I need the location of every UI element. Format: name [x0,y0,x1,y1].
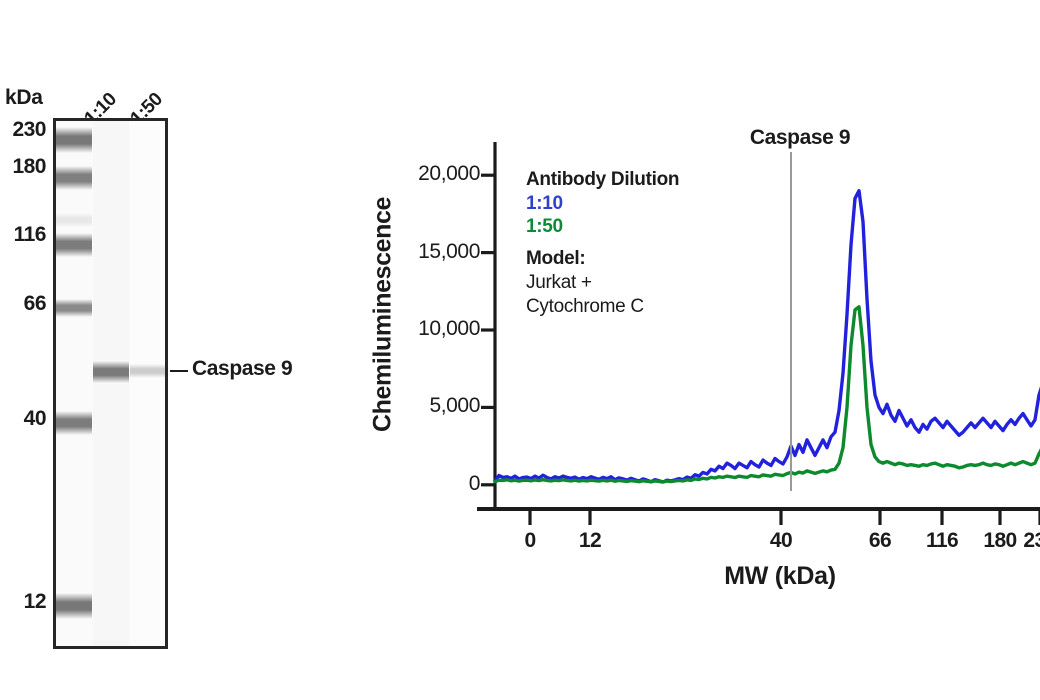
mw-marker-66: 66 [0,292,46,316]
ladder-band [56,166,92,190]
caspase9-blot-label: Caspase 9 [192,357,292,381]
plot-area [330,0,1040,700]
x-axis-title: MW (kDa) [660,562,900,591]
series-line-1-50 [495,307,1040,482]
mw-marker-116: 116 [0,223,46,247]
mw-marker-40: 40 [0,407,46,431]
figure-root: kDa 230180116664012 1:101:50 Caspase 9 C… [0,0,1040,700]
x-tick-label-40: 40 [741,529,821,553]
y-tick-label-20000: 20,000 [370,162,480,186]
electropherogram-chart-panel: Chemiluminescence 05,00010,00015,00020,0… [330,0,1040,700]
y-tick-label-5000: 5,000 [370,394,480,418]
ladder-band [56,299,92,317]
mw-marker-230: 230 [0,118,46,142]
mw-marker-12: 12 [0,590,46,614]
caspase9-band-1-50 [130,364,165,378]
chart-legend: Antibody Dilution 1:10 1:50 Model: Jurka… [526,168,756,319]
legend-model-line-1: Jurkat + [526,271,756,295]
caspase9-annotation-line [790,152,792,491]
legend-entry-1-50: 1:50 [526,215,756,238]
mw-marker-180: 180 [0,155,46,179]
y-tick-label-10000: 10,000 [370,317,480,341]
kda-unit-label: kDa [5,86,43,110]
lane-ladder [56,121,92,646]
ladder-band [56,213,92,227]
caspase9-pointer-line [170,370,188,372]
blot-image [53,118,168,649]
lane-dilution-1-10 [93,121,129,646]
x-tick-label-230: 230 [1000,529,1040,553]
legend-entry-1-10: 1:10 [526,192,756,215]
ladder-band [56,593,92,619]
y-tick-label-15000: 15,000 [370,240,480,264]
y-tick-label-0: 0 [370,472,480,496]
caspase9-chart-annotation-label: Caspase 9 [710,126,890,150]
caspase9-band-1-10 [93,361,129,383]
y-axis-title: Chemiluminescence [369,150,398,480]
western-blot-panel: kDa 230180116664012 1:101:50 Caspase 9 [0,0,330,700]
legend-model-line-2: Cytochrome C [526,295,756,319]
ladder-band [56,233,92,257]
lane-dilution-1-50 [130,121,165,646]
legend-dilution-title: Antibody Dilution [526,168,756,192]
legend-model-title: Model: [526,246,756,272]
ladder-band [56,411,92,435]
x-tick-label-12: 12 [550,529,630,553]
ladder-band [56,127,92,153]
